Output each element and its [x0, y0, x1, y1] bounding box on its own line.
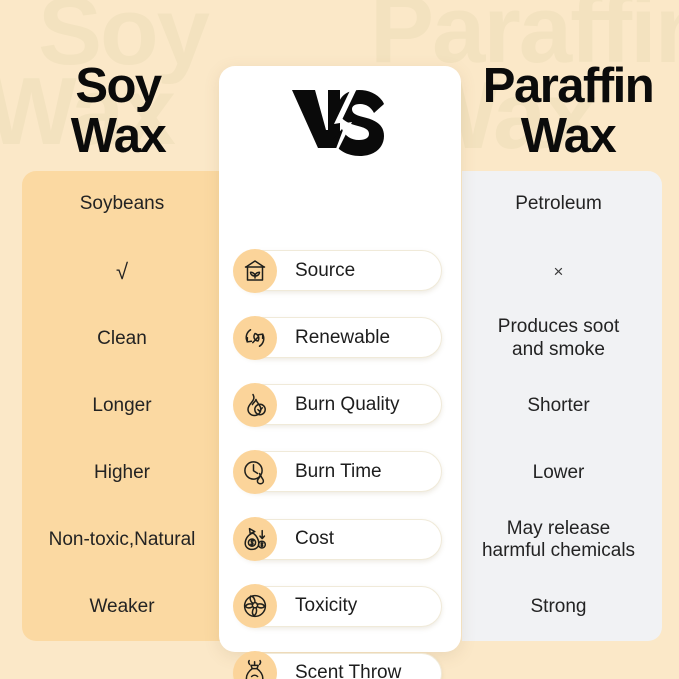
feature-label: Cost — [295, 528, 334, 550]
feature-pill-renewable[interactable]: Renewable — [236, 317, 442, 358]
soy-value-text: Soybeans — [80, 193, 165, 215]
paraffin-value-cell: Strong — [462, 574, 662, 641]
feature-row: Source — [219, 237, 461, 304]
paraffin-value-cell: Petroleum — [462, 171, 662, 238]
biohazard-icon — [233, 584, 277, 628]
feature-row: Burn Time — [219, 438, 461, 505]
paraffin-value-cell: Lower — [462, 440, 662, 507]
feature-label: Burn Quality — [295, 394, 400, 416]
infographic-canvas: Soy Wax Paraffin Wax Soy Wax Paraffin Wa… — [0, 0, 679, 679]
paraffin-wax-value-column: Petroleum×Produces soot and smokeShorter… — [462, 171, 662, 641]
soy-value-text: √ — [116, 259, 128, 285]
soy-value-text: Clean — [97, 328, 147, 350]
soy-value-cell: Higher — [22, 440, 222, 507]
feature-row: Burn Quality — [219, 371, 461, 438]
feature-pill-scent-throw[interactable]: Scent Throw — [236, 653, 442, 679]
heading-paraffin-wax: Paraffin Wax — [452, 62, 679, 162]
feature-pill-toxicity[interactable]: Toxicity — [236, 586, 442, 627]
feature-label: Burn Time — [295, 461, 382, 483]
feature-card: Source Renewable Burn Quality Burn Time — [219, 66, 461, 652]
paraffin-value-cell: May release harmful chemicals — [462, 507, 662, 574]
sack-leaf-icon — [233, 249, 277, 293]
paraffin-value-text: Petroleum — [457, 193, 660, 215]
feature-label: Renewable — [295, 327, 390, 349]
paraffin-value-text: May release harmful chemicals — [457, 518, 660, 563]
soy-value-text: Longer — [92, 395, 151, 417]
feature-pill-burn-time[interactable]: Burn Time — [236, 451, 442, 492]
feature-row: Scent Throw — [219, 640, 461, 679]
scent-pouch-icon — [233, 651, 277, 679]
soy-value-text: Non-toxic,Natural — [49, 529, 196, 551]
vs-logo-icon — [219, 76, 461, 172]
soy-value-cell: Soybeans — [22, 171, 222, 238]
feature-label: Source — [295, 260, 355, 282]
feature-label: Toxicity — [295, 595, 357, 617]
paraffin-value-cell: × — [462, 238, 662, 305]
feature-pill-cost[interactable]: Cost — [236, 519, 442, 560]
soy-value-cell: Non-toxic,Natural — [22, 507, 222, 574]
soy-wax-value-column: Soybeans√CleanLongerHigherNon-toxic,Natu… — [22, 171, 222, 641]
feature-pill-source[interactable]: Source — [236, 250, 442, 291]
paraffin-value-text: Produces soot and smoke — [457, 316, 660, 361]
feature-row: Cost — [219, 506, 461, 573]
soy-value-cell: Weaker — [22, 574, 222, 641]
paraffin-value-cell: Shorter — [462, 372, 662, 439]
money-bag-icon — [233, 517, 277, 561]
recycle-leaf-icon — [233, 316, 277, 360]
soy-value-cell: √ — [22, 238, 222, 305]
clock-flame-icon — [233, 450, 277, 494]
heading-soy-wax: Soy Wax — [8, 62, 228, 162]
paraffin-value-text: Lower — [457, 462, 660, 484]
soy-value-text: Weaker — [89, 596, 154, 618]
flame-check-icon — [233, 383, 277, 427]
paraffin-value-text: × — [457, 262, 660, 282]
feature-pill-list: Source Renewable Burn Quality Burn Time — [219, 237, 461, 679]
soy-value-text: Higher — [94, 462, 150, 484]
paraffin-value-text: Shorter — [457, 395, 660, 417]
paraffin-value-text: Strong — [457, 596, 660, 618]
soy-value-cell: Longer — [22, 372, 222, 439]
feature-label: Scent Throw — [295, 662, 401, 679]
soy-value-cell: Clean — [22, 305, 222, 372]
feature-row: Toxicity — [219, 573, 461, 640]
feature-row: Renewable — [219, 304, 461, 371]
feature-pill-burn-quality[interactable]: Burn Quality — [236, 384, 442, 425]
paraffin-value-cell: Produces soot and smoke — [462, 305, 662, 372]
